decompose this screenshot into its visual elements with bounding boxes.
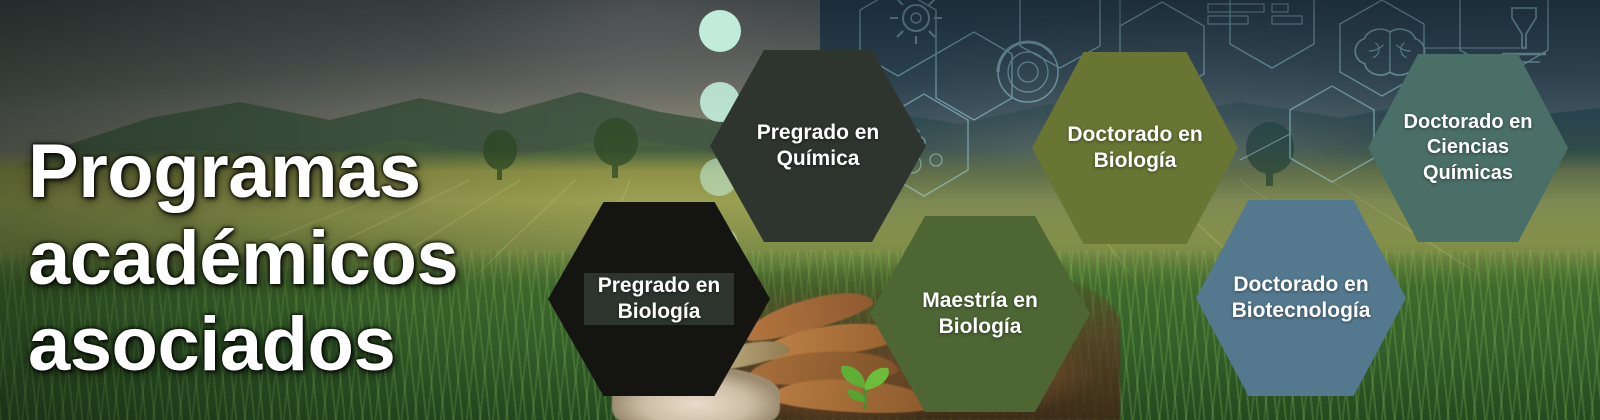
program-hex-label: Pregrado en Química [710, 120, 926, 173]
program-hex-label: Maestría en Biología [870, 288, 1090, 341]
program-hex-label: Pregrado en Biología [584, 273, 735, 326]
programs-banner: Programas académicos asociados Pregrado … [0, 0, 1600, 420]
program-hex-label: Doctorado en Ciencias Químicas [1368, 110, 1568, 186]
program-hex-label: Doctorado en Biotecnología [1196, 272, 1406, 325]
page-title: Programas académicos asociados [28, 129, 588, 389]
accent-dot [699, 10, 741, 52]
green-seedling [830, 356, 900, 412]
program-hex-label: Doctorado en Biología [1032, 122, 1238, 175]
